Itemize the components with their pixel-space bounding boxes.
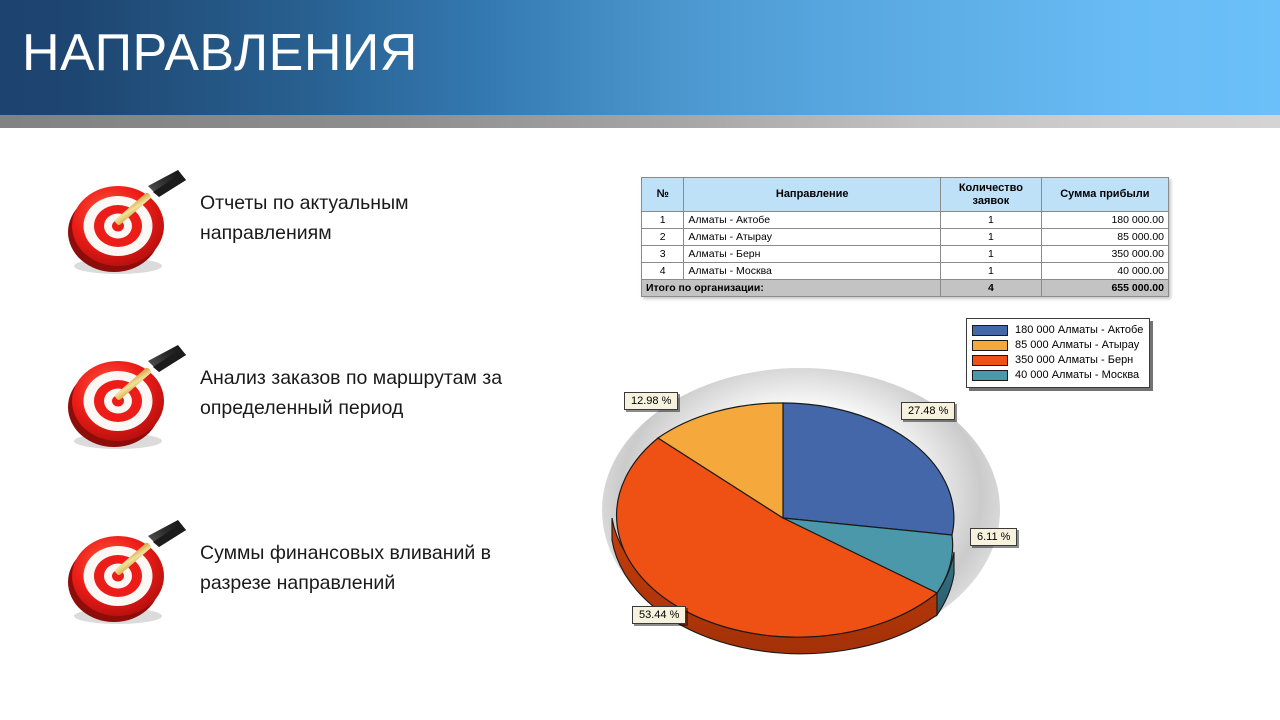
pie-percent-label-bern: 53.44 % xyxy=(632,606,686,624)
total-count: 4 xyxy=(941,280,1042,297)
cell-no: 4 xyxy=(642,263,684,280)
total-label: Итого по организации: xyxy=(642,280,941,297)
legend-item: 180 000 Алматы - Актобе xyxy=(972,323,1143,337)
legend-swatch-icon xyxy=(972,340,1008,351)
total-sum: 655 000.00 xyxy=(1041,280,1168,297)
cell-sum: 85 000.00 xyxy=(1041,229,1168,246)
cell-sum: 40 000.00 xyxy=(1041,263,1168,280)
slide: НАПРАВЛЕНИЯ xyxy=(0,0,1280,720)
cell-count: 1 xyxy=(941,263,1042,280)
cell-sum: 350 000.00 xyxy=(1041,246,1168,263)
page-title: НАПРАВЛЕНИЯ xyxy=(22,26,418,81)
column-header-direction: Направление xyxy=(684,178,941,212)
target-dart-icon xyxy=(60,518,190,630)
cell-direction: Алматы - Москва xyxy=(684,263,941,280)
cell-count: 1 xyxy=(941,229,1042,246)
legend-label: 85 000 Алматы - Атырау xyxy=(1015,339,1139,351)
cell-no: 3 xyxy=(642,246,684,263)
list-item-label: Суммы финансовых вливаний в разрезе напр… xyxy=(200,538,530,598)
list-item: Отчеты по актуальным направлениям xyxy=(0,160,560,335)
legend-label: 40 000 Алматы - Москва xyxy=(1015,369,1139,381)
cell-no: 2 xyxy=(642,229,684,246)
list-item-label: Анализ заказов по маршрутам за определен… xyxy=(200,363,530,423)
cell-direction: Алматы - Берн xyxy=(684,246,941,263)
column-header-sum: Сумма прибыли xyxy=(1041,178,1168,212)
header-divider xyxy=(0,115,1280,128)
cell-count: 1 xyxy=(941,246,1042,263)
report-table: № Направление Количество заявок Сумма пр… xyxy=(641,177,1169,297)
cell-sum: 180 000.00 xyxy=(1041,212,1168,229)
table-total-row: Итого по организации: 4 655 000.00 xyxy=(642,280,1169,297)
pie-percent-label-aktobe: 27.48 % xyxy=(901,402,955,420)
pie-percent-label-moskva: 6.11 % xyxy=(970,528,1017,546)
legend-label: 350 000 Алматы - Берн xyxy=(1015,354,1133,366)
list-item: Суммы финансовых вливаний в разрезе напр… xyxy=(0,510,560,685)
legend-swatch-icon xyxy=(972,325,1008,336)
table-row: 2 Алматы - Атырау 1 85 000.00 xyxy=(642,229,1169,246)
pie-chart: 12.98 % 27.48 % 6.11 % 53.44 % xyxy=(592,360,1022,660)
legend-item: 85 000 Алматы - Атырау xyxy=(972,338,1143,352)
column-header-count: Количество заявок xyxy=(941,178,1042,212)
cell-count: 1 xyxy=(941,212,1042,229)
table-header-row: № Направление Количество заявок Сумма пр… xyxy=(642,178,1169,212)
table-row: 4 Алматы - Москва 1 40 000.00 xyxy=(642,263,1169,280)
legend-label: 180 000 Алматы - Актобе xyxy=(1015,324,1143,336)
target-dart-icon xyxy=(60,168,190,280)
target-dart-icon xyxy=(60,343,190,455)
pie-percent-label-atyrau: 12.98 % xyxy=(624,392,678,410)
cell-no: 1 xyxy=(642,212,684,229)
list-item: Анализ заказов по маршрутам за определен… xyxy=(0,335,560,510)
cell-direction: Алматы - Атырау xyxy=(684,229,941,246)
pie-slice-aktobe xyxy=(783,403,954,535)
bullet-list: Отчеты по актуальным направлениям Анализ xyxy=(0,160,560,685)
table-row: 1 Алматы - Актобе 1 180 000.00 xyxy=(642,212,1169,229)
table-row: 3 Алматы - Берн 1 350 000.00 xyxy=(642,246,1169,263)
column-header-no: № xyxy=(642,178,684,212)
list-item-label: Отчеты по актуальным направлениям xyxy=(200,188,530,248)
cell-direction: Алматы - Актобе xyxy=(684,212,941,229)
